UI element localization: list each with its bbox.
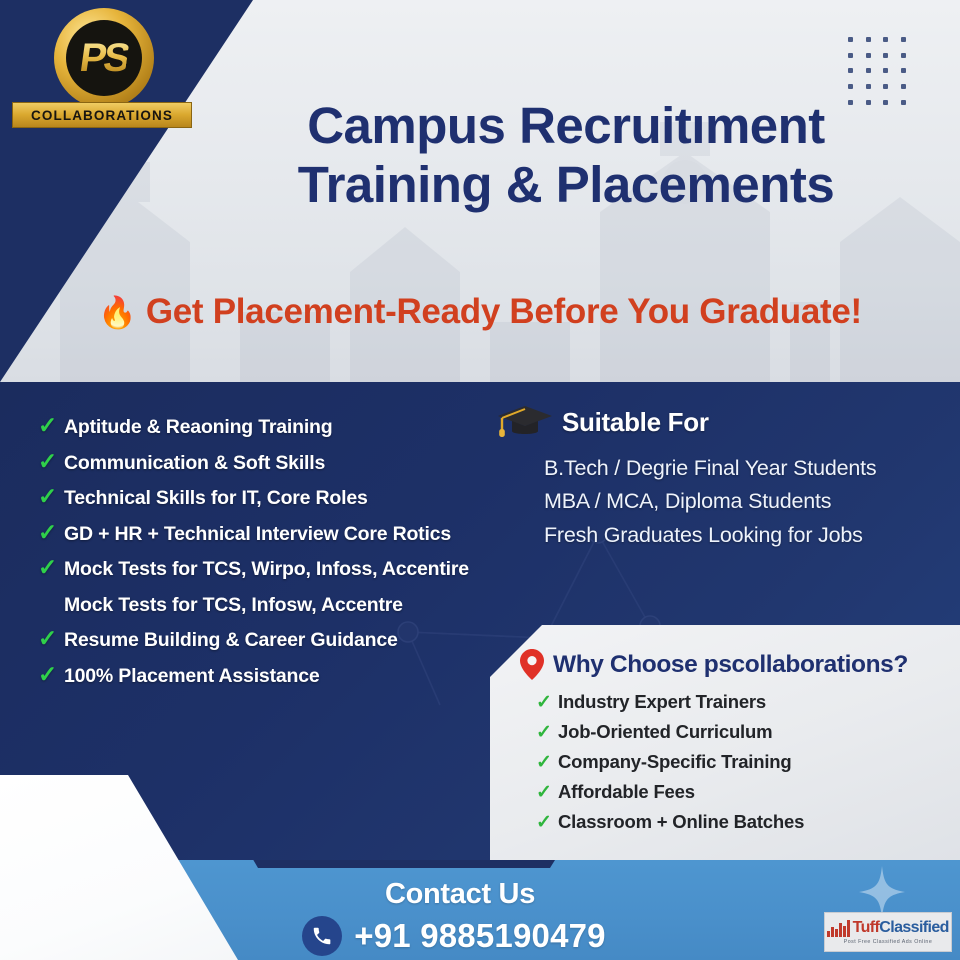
- why-choose-title: Why Choose pscollaborations?: [553, 651, 908, 679]
- map-pin-icon: [520, 649, 544, 680]
- header-section: PS COLLABORATIONS Campus Recruitıment Tr…: [0, 0, 960, 382]
- check-icon: ✓: [38, 485, 64, 508]
- why-choose-panel: Why Choose pscollaborations? ✓ Industry …: [490, 625, 960, 860]
- check-icon: ✓: [38, 556, 64, 579]
- list-item: ✓ Resume Building & Career Guidance: [38, 627, 538, 652]
- watermark-name-part1: Tuff: [853, 919, 880, 936]
- flame-icon: 🔥: [98, 295, 136, 330]
- check-icon: ✓: [38, 627, 64, 650]
- check-icon: ✓: [536, 781, 558, 804]
- list-item: ✓ Technical Skills for IT, Core Roles: [38, 485, 538, 510]
- why-item-label: Job-Oriented Curriculum: [558, 721, 772, 743]
- list-item: ✓ Affordable Fees: [536, 781, 804, 804]
- headline-line-1: Campus Recruitıment: [196, 96, 936, 155]
- logo-banner: COLLABORATIONS: [12, 102, 192, 128]
- feature-label: Communication & Soft Skills: [64, 452, 325, 475]
- list-item: ✓ Mock Tests for TCS, Wirpo, Infoss, Acc…: [38, 556, 538, 581]
- list-item: ✓ Communication & Soft Skills: [38, 450, 538, 475]
- contact-phone-number[interactable]: +91 9885190479: [354, 917, 605, 955]
- check-icon: ✓: [38, 414, 64, 437]
- logo-circle-icon: PS: [54, 8, 154, 108]
- brand-logo: PS COLLABORATIONS: [12, 8, 192, 126]
- phone-icon: [302, 916, 342, 956]
- why-item-label: Classroom + Online Batches: [558, 811, 804, 833]
- suitable-item: Fresh Graduates Looking for Jobs: [544, 519, 936, 552]
- list-item: ✓ Industry Expert Trainers: [536, 691, 804, 714]
- suitable-item: B.Tech / Degrie Final Year Students: [544, 452, 936, 485]
- feature-label: Mock Tests for TCS, Infosw, Accentre: [64, 594, 403, 617]
- feature-label: 100% Placement Assistance: [64, 665, 320, 688]
- poster: PS COLLABORATIONS Campus Recruitıment Tr…: [0, 0, 960, 960]
- list-item: ✓ GD + HR + Technical Interview Core Rot…: [38, 521, 538, 546]
- suitable-for-section: Suitable For B.Tech / Degrie Final Year …: [496, 404, 936, 552]
- phone-glyph: [311, 925, 333, 947]
- list-item: ✓ 100% Placement Assistance: [38, 663, 538, 688]
- tagline-text: Get Placement-Ready Before You Graduate!: [146, 292, 862, 331]
- feature-label: GD + HR + Technical Interview Core Rotic…: [64, 523, 451, 546]
- check-icon: ✓: [38, 450, 64, 473]
- watermark-tagline: Post Free Classified Ads Online: [844, 939, 932, 945]
- watermark-name: TuffClassified: [853, 920, 949, 936]
- suitable-for-title: Suitable For: [562, 407, 709, 438]
- suitable-for-list: B.Tech / Degrie Final Year Students MBA …: [496, 452, 936, 552]
- list-item: ✓ Job-Oriented Curriculum: [536, 721, 804, 744]
- watermark-name-part2: Classified: [879, 919, 949, 936]
- list-item: ✓ Mock Tests for TCS, Infosw, Accentre: [38, 592, 538, 617]
- headline-line-2: Training & Placements: [196, 155, 936, 214]
- footer-navy-wedge: [230, 860, 580, 868]
- why-choose-list: ✓ Industry Expert Trainers ✓ Job-Oriente…: [536, 691, 804, 841]
- body-section: ✓ Aptitude & Reaoning Training ✓ Communi…: [0, 382, 960, 860]
- tuffclassified-watermark: TuffClassified Post Free Classified Ads …: [824, 912, 952, 952]
- check-icon: ✓: [536, 691, 558, 714]
- features-list: ✓ Aptitude & Reaoning Training ✓ Communi…: [38, 414, 538, 698]
- why-item-label: Company-Specific Training: [558, 751, 792, 773]
- graduation-cap-icon: [496, 400, 554, 440]
- check-icon: ✓: [536, 721, 558, 744]
- feature-label: Technical Skills for IT, Core Roles: [64, 487, 368, 510]
- check-icon: ✓: [536, 751, 558, 774]
- sparkle-icon: [859, 866, 905, 918]
- feature-label: Resume Building & Career Guidance: [64, 629, 398, 652]
- check-icon: ✓: [536, 811, 558, 834]
- tagline: 🔥 Get Placement-Ready Before You Graduat…: [0, 292, 960, 332]
- list-item: ✓ Aptitude & Reaoning Training: [38, 414, 538, 439]
- feature-label: Aptitude & Reaoning Training: [64, 416, 332, 439]
- why-item-label: Affordable Fees: [558, 781, 695, 803]
- check-icon: ✓: [38, 521, 64, 544]
- why-item-label: Industry Expert Trainers: [558, 691, 766, 713]
- bar-chart-icon: [827, 920, 850, 937]
- page-title: Campus Recruitıment Training & Placement…: [196, 96, 936, 214]
- logo-banner-text: COLLABORATIONS: [31, 108, 173, 123]
- feature-label: Mock Tests for TCS, Wirpo, Infoss, Accen…: [64, 558, 469, 581]
- logo-monogram: PS: [77, 36, 131, 81]
- list-item: ✓ Company-Specific Training: [536, 751, 804, 774]
- check-icon: ✓: [38, 663, 64, 686]
- suitable-item: MBA / MCA, Diploma Students: [544, 485, 936, 518]
- list-item: ✓ Classroom + Online Batches: [536, 811, 804, 834]
